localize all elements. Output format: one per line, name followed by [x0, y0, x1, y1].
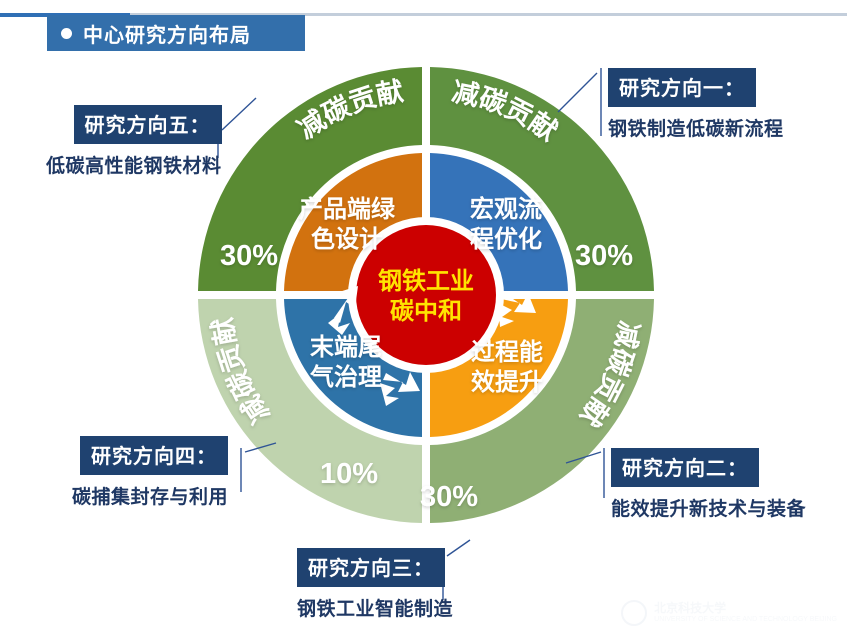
callout-subtitle: 能效提升新技术与装备 [611, 494, 806, 521]
callout-subtitle: 钢铁工业智能制造 [297, 594, 453, 621]
inner-label-top-left-line2: 色设计 [311, 225, 383, 253]
callout-subtitle: 碳捕集封存与利用 [72, 482, 228, 509]
research-direction-wheel: 减碳贡献 减碳贡献 减碳贡献 减碳贡献 30% 30% 30% 10% 产品端绿… [186, 55, 666, 535]
inner-label-top-right-line2: 程优化 [470, 225, 542, 253]
callout-direction-5[interactable]: 研究方向五： 低碳高性能钢铁材料 [46, 105, 222, 178]
outer-value-bottom-right: 30% [420, 481, 478, 513]
bullet-icon [61, 28, 72, 39]
callout-caption: 研究方向三： [297, 548, 445, 587]
callout-subtitle: 钢铁制造低碳新流程 [608, 114, 784, 141]
callout-direction-3[interactable]: 研究方向三： 钢铁工业智能制造 [297, 548, 453, 621]
callout-direction-2[interactable]: 研究方向二： 能效提升新技术与装备 [611, 448, 806, 521]
university-seal-icon [621, 600, 647, 626]
outer-value-bottom-left: 10% [320, 458, 378, 490]
callout-caption: 研究方向四： [80, 436, 228, 475]
inner-label-bottom-left-line2: 气治理 [309, 363, 382, 391]
callout-direction-1[interactable]: 研究方向一： 钢铁制造低碳新流程 [608, 68, 784, 141]
watermark-text: 北京科技大学 UNIVERSITY OF SCIENCE AND TECHNOL… [654, 602, 837, 624]
center-label-line2: 碳中和 [390, 298, 462, 325]
callout-caption: 研究方向五： [74, 105, 222, 144]
page-title-banner: 中心研究方向布局 [47, 15, 305, 51]
inner-label-top-left-line1: 产品端绿 [299, 195, 396, 223]
page-title: 中心研究方向布局 [83, 19, 251, 48]
inner-label-top-right-line1: 宏观流 [470, 195, 542, 223]
inner-label-bottom-right-line1: 过程能 [471, 338, 543, 366]
outer-value-top-left: 30% [220, 240, 278, 272]
callout-subtitle: 低碳高性能钢铁材料 [46, 151, 222, 178]
center-label-line1: 钢铁工业 [378, 268, 474, 295]
callout-direction-4[interactable]: 研究方向四： 碳捕集封存与利用 [72, 436, 228, 509]
watermark: 北京科技大学 UNIVERSITY OF SCIENCE AND TECHNOL… [621, 600, 837, 626]
watermark-name: 北京科技大学 [654, 601, 726, 615]
inner-label-bottom-right-line2: 效提升 [471, 368, 543, 396]
inner-label-bottom-left-line1: 末端尾 [310, 334, 382, 361]
callout-caption: 研究方向二： [611, 448, 759, 487]
watermark-sub: UNIVERSITY OF SCIENCE AND TECHNOLOGY BEI… [654, 616, 837, 624]
callout-caption: 研究方向一： [608, 68, 756, 107]
outer-value-top-right: 30% [575, 240, 633, 272]
